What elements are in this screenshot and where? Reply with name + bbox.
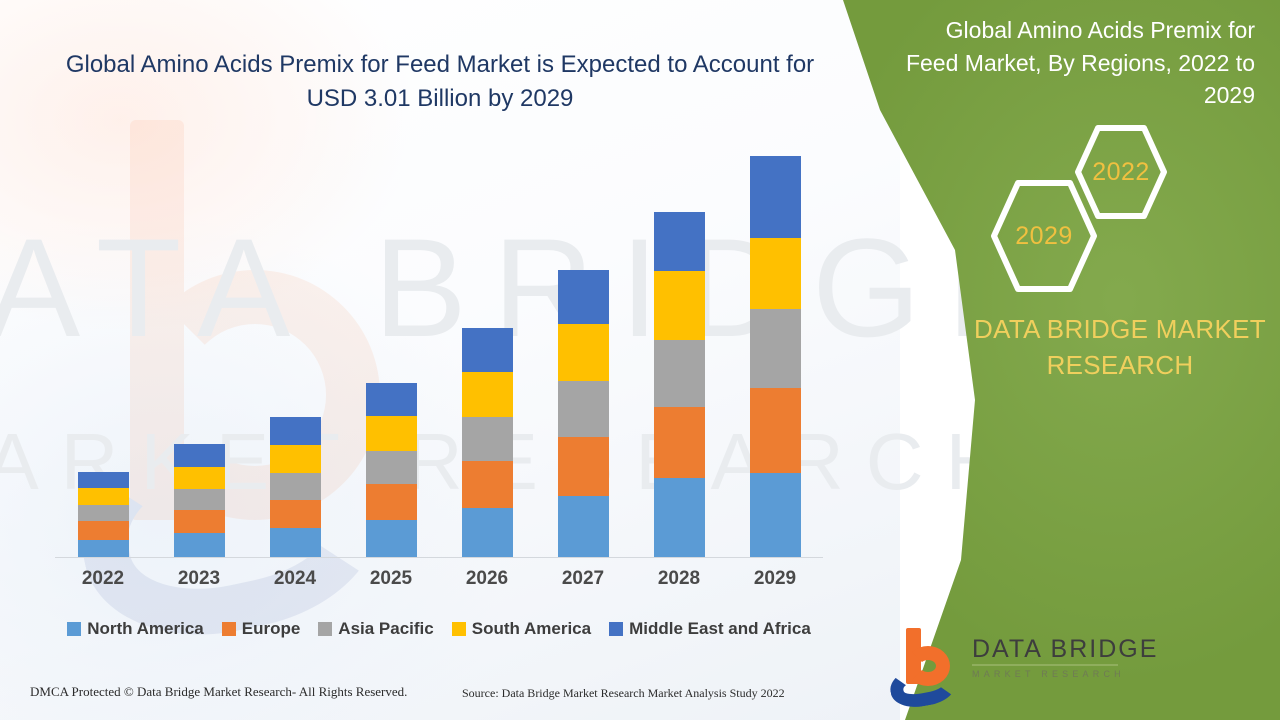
bar-segment: [78, 488, 129, 505]
bar-segment: [558, 270, 609, 325]
bar-segment: [270, 473, 321, 500]
bar-segment: [654, 407, 705, 479]
x-axis-tick-label: 2029: [728, 568, 823, 590]
footer-source: Source: Data Bridge Market Research Mark…: [462, 686, 785, 701]
bar-segment: [270, 500, 321, 528]
legend-swatch-icon: [67, 622, 81, 636]
bar-column: [56, 151, 151, 557]
infographic-canvas: DATA BRIDGE MARKET RESEARCH Global Amino…: [0, 0, 1280, 720]
x-axis-tick-label: 2022: [56, 568, 151, 590]
chart-title: Global Amino Acids Premix for Feed Marke…: [60, 48, 820, 116]
bar-segment: [462, 417, 513, 461]
chart-legend: North AmericaEuropeAsia PacificSouth Ame…: [55, 616, 823, 642]
bar-segment: [462, 328, 513, 372]
legend-label: South America: [472, 619, 591, 639]
x-axis-line: [55, 557, 823, 558]
bar-column: [248, 151, 343, 557]
stacked-bar: [654, 212, 705, 557]
panel-brand-text: DATA BRIDGE MARKET RESEARCH: [955, 312, 1280, 384]
data-bridge-wordmark: DATA BRIDGE MARKET RESEARCH: [972, 636, 1118, 679]
bar-segment: [270, 445, 321, 473]
hexagon-2029-label: 2029: [1015, 222, 1073, 251]
x-axis-tick-label: 2025: [344, 568, 439, 590]
stacked-bar: [750, 156, 801, 557]
bar-segment: [78, 505, 129, 521]
bar-column: [344, 151, 439, 557]
bar-segment: [654, 212, 705, 271]
x-axis-tick-label: 2028: [632, 568, 727, 590]
x-axis-tick-label: 2027: [536, 568, 631, 590]
legend-swatch-icon: [609, 622, 623, 636]
bar-segment: [270, 528, 321, 557]
stacked-bar: [174, 444, 225, 557]
bar-segment: [78, 472, 129, 488]
bar-segment: [174, 510, 225, 533]
stacked-bar: [462, 328, 513, 557]
footer-copyright: DMCA Protected © Data Bridge Market Rese…: [30, 684, 407, 700]
stacked-bar: [558, 270, 609, 557]
x-axis-labels: 20222023202420252026202720282029: [55, 566, 823, 592]
bar-column: [632, 151, 727, 557]
bar-segment: [750, 156, 801, 237]
legend-item[interactable]: Europe: [222, 619, 301, 639]
legend-swatch-icon: [318, 622, 332, 636]
bar-segment: [174, 444, 225, 467]
x-axis-tick-label: 2024: [248, 568, 343, 590]
bar-segment: [750, 473, 801, 557]
legend-item[interactable]: North America: [67, 619, 204, 639]
bar-segment: [270, 417, 321, 445]
hexagon-badges: 2022 2029: [980, 122, 1200, 292]
bar-segment: [78, 540, 129, 557]
bar-column: [440, 151, 535, 557]
bar-segment: [558, 496, 609, 557]
bar-segment: [174, 489, 225, 510]
legend-label: Europe: [242, 619, 301, 639]
stacked-bar: [366, 383, 417, 557]
bar-column: [152, 151, 247, 557]
logo-name: DATA BRIDGE: [972, 636, 1118, 662]
bar-segment: [654, 271, 705, 340]
stacked-bar: [270, 417, 321, 557]
bar-segment: [654, 340, 705, 407]
bar-segment: [750, 388, 801, 473]
bar-segment: [78, 521, 129, 540]
legend-item[interactable]: South America: [452, 619, 591, 639]
bar-segment: [750, 309, 801, 388]
bar-segment: [174, 467, 225, 490]
bar-segment: [462, 461, 513, 508]
legend-swatch-icon: [452, 622, 466, 636]
legend-item[interactable]: Asia Pacific: [318, 619, 433, 639]
bar-segment: [366, 520, 417, 557]
bar-segment: [366, 416, 417, 451]
legend-label: Middle East and Africa: [629, 619, 811, 639]
panel-title: Global Amino Acids Premix for Feed Marke…: [905, 14, 1255, 112]
legend-item[interactable]: Middle East and Africa: [609, 619, 811, 639]
bar-segment: [366, 451, 417, 484]
bar-segment: [462, 372, 513, 417]
bar-segment: [462, 508, 513, 557]
stacked-bar: [78, 472, 129, 557]
data-bridge-mark-icon: [888, 626, 970, 704]
bar-segment: [174, 533, 225, 557]
bar-segment: [750, 238, 801, 310]
bar-column: [728, 151, 823, 557]
hexagon-2022-label: 2022: [1092, 158, 1150, 187]
x-axis-tick-label: 2026: [440, 568, 535, 590]
legend-label: Asia Pacific: [338, 619, 433, 639]
data-bridge-logo: DATA BRIDGE MARKET RESEARCH: [888, 626, 1118, 704]
legend-swatch-icon: [222, 622, 236, 636]
bar-segment: [558, 324, 609, 381]
bar-segment: [558, 381, 609, 437]
bar-segment: [558, 437, 609, 496]
bar-segment: [366, 383, 417, 416]
x-axis-tick-label: 2023: [152, 568, 247, 590]
bar-segment: [654, 478, 705, 557]
legend-label: North America: [87, 619, 204, 639]
bar-column: [536, 151, 631, 557]
logo-rule: [972, 664, 1118, 666]
bar-group: [55, 151, 823, 557]
bar-segment: [366, 484, 417, 520]
logo-tagline: MARKET RESEARCH: [972, 669, 1118, 679]
hexagon-2029-icon: 2029: [990, 177, 1098, 295]
chart-plot-area: [55, 150, 823, 558]
